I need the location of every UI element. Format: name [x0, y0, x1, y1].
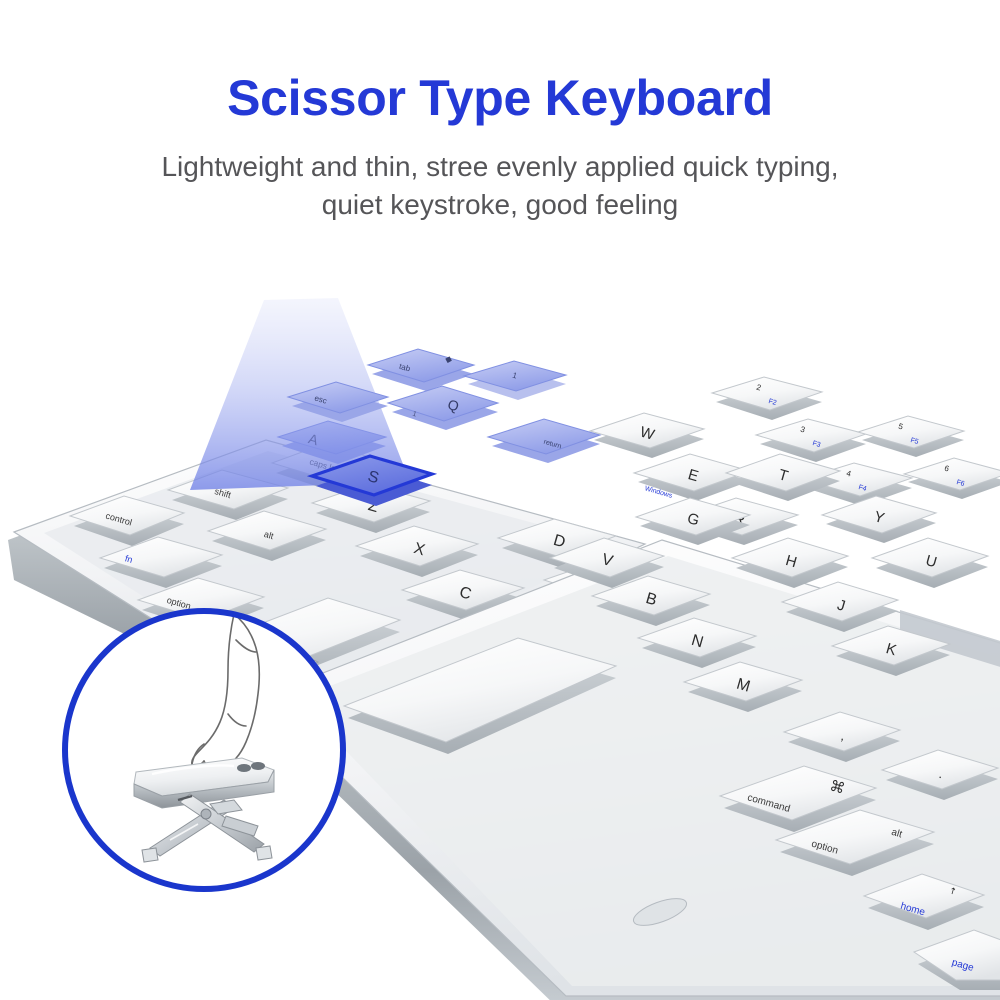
- key-tab[interactable]: tab ◆: [368, 349, 474, 391]
- subtitle-line-2: quiet keystroke, good feeling: [0, 186, 1000, 224]
- inset-contents: [58, 604, 350, 896]
- key-2[interactable]: 2 F2: [712, 377, 822, 420]
- scissor-switch-detail-callout: [58, 604, 350, 896]
- heading-block: Scissor Type Keyboard Lightweight and th…: [0, 0, 1000, 224]
- key-U[interactable]: U: [872, 538, 988, 588]
- subtitle-line-1: Lightweight and thin, stree evenly appli…: [161, 151, 838, 182]
- key-5[interactable]: 5 F5: [858, 416, 964, 457]
- product-marketing-banner: Scissor Type Keyboard Lightweight and th…: [0, 0, 1000, 1000]
- key-E[interactable]: E Windows: [634, 454, 750, 501]
- page-subtitle: Lightweight and thin, stree evenly appli…: [0, 126, 1000, 224]
- key-Y[interactable]: Y: [822, 496, 936, 543]
- key-3[interactable]: 3 F3: [756, 419, 866, 462]
- key-W[interactable]: W: [590, 413, 704, 458]
- key-1[interactable]: 1: [464, 361, 566, 400]
- key-return[interactable]: return: [488, 419, 600, 463]
- page-title: Scissor Type Keyboard: [0, 0, 1000, 126]
- key-6[interactable]: 6 F6: [904, 458, 1000, 499]
- key-Q[interactable]: Q 1: [388, 386, 498, 430]
- key-T[interactable]: T: [726, 454, 840, 501]
